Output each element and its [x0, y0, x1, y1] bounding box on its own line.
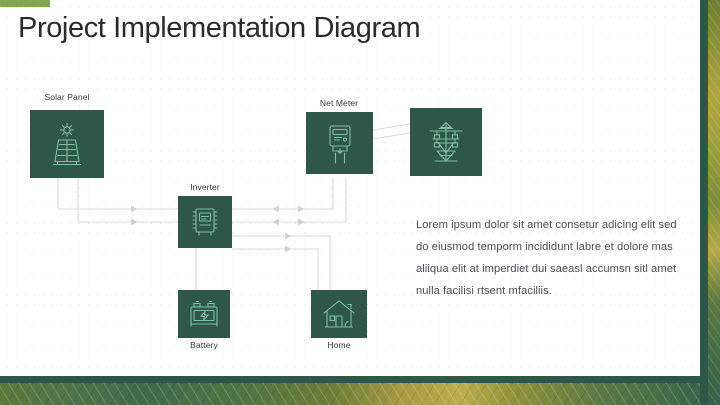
- node-net-meter[interactable]: [306, 112, 373, 174]
- bottom-border-strip: [0, 376, 708, 383]
- node-label-battery: Battery: [178, 340, 230, 350]
- node-battery[interactable]: [178, 290, 230, 338]
- node-label-home: Home: [311, 340, 367, 350]
- right-border-strip: [700, 0, 708, 405]
- inverter-icon: [187, 204, 223, 240]
- node-solar-panel[interactable]: [30, 110, 104, 178]
- solar-panel-icon: [46, 122, 88, 166]
- power-tower-icon: [424, 119, 468, 165]
- bottom-photo-strip: [0, 383, 720, 405]
- home-icon: [321, 298, 357, 330]
- slide-canvas: Project Implementation Diagram: [0, 0, 720, 405]
- node-inverter[interactable]: [178, 196, 232, 248]
- node-power-tower[interactable]: [410, 108, 482, 176]
- body-paragraph: Lorem ipsum dolor sit amet consetur adic…: [416, 214, 684, 302]
- battery-icon: [187, 298, 221, 330]
- right-photo-strip: [708, 0, 720, 405]
- node-home[interactable]: [311, 290, 367, 338]
- node-label-inverter: Inverter: [178, 182, 232, 192]
- node-label-net-meter: Net Meter: [306, 98, 372, 108]
- node-label-solar-panel: Solar Panel: [30, 92, 104, 102]
- net-meter-icon: [322, 122, 358, 164]
